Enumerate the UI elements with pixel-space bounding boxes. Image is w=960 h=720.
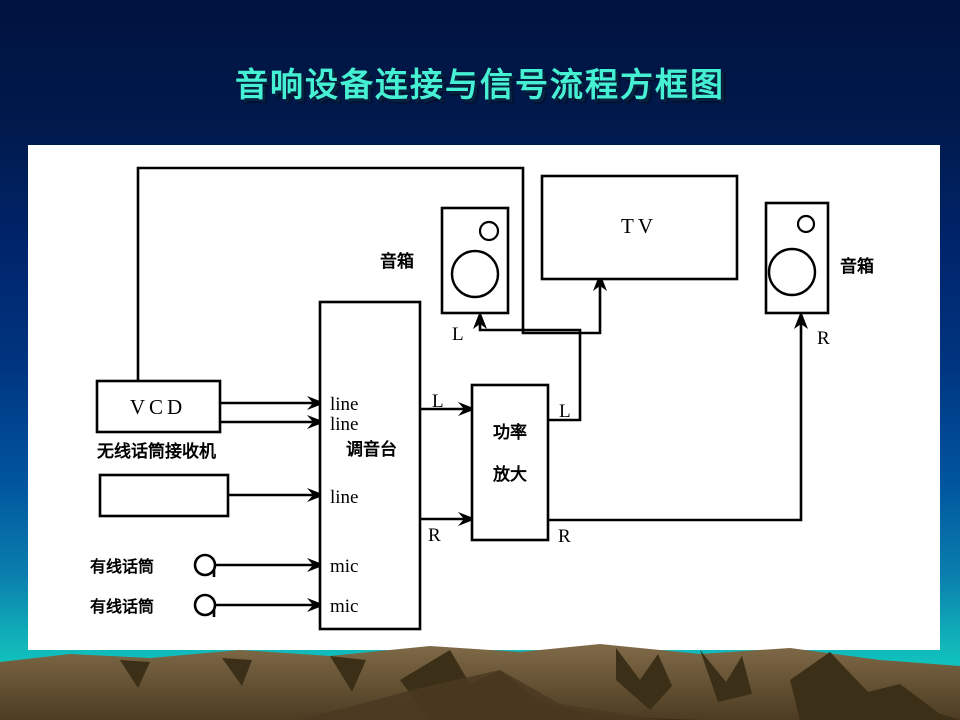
woofer-icon [452, 251, 498, 297]
wireless-receiver-box [100, 475, 228, 516]
mixer-input-mic-2: mic [330, 596, 359, 617]
speaker-left-label: 音箱 [380, 251, 414, 272]
speaker-left-channel-label: L [452, 324, 464, 345]
mixer-output-R-label: R [428, 525, 441, 546]
wire-amp-R-to-speaker [548, 325, 801, 520]
amplifier-label-line1: 功率 [493, 422, 527, 443]
rock-decoration [0, 640, 960, 720]
slide-root: 音响设备连接与信号流程方框图 [0, 0, 960, 720]
tv-block: TV [542, 176, 737, 279]
vcd-label: VCD [130, 395, 186, 419]
slide-title: 音响设备连接与信号流程方框图 [0, 58, 960, 106]
wired-mic-2-label: 有线话筒 [90, 597, 154, 616]
vcd-block: VCD [97, 381, 220, 432]
diagram-panel: VCD 无线话筒接收机 有线话筒 有线话筒 line [28, 145, 940, 650]
tweeter-icon [480, 222, 498, 240]
wired-mic-1-label: 有线话筒 [90, 557, 154, 576]
mixer-block: line line 调音台 line mic mic L R [320, 302, 444, 629]
mixer-label: 调音台 [346, 439, 397, 460]
block-diagram: VCD 无线话筒接收机 有线话筒 有线话筒 line [28, 145, 940, 650]
amplifier-output-R-label: R [558, 526, 571, 547]
speaker-right-channel-label: R [817, 328, 830, 349]
mixer-input-mic-1: mic [330, 556, 359, 577]
mixer-input-line-2: line [330, 414, 359, 435]
woofer-icon [769, 249, 815, 295]
mixer-output-L-label: L [432, 391, 444, 412]
tweeter-icon [798, 216, 814, 232]
wireless-receiver-block: 无线话筒接收机 [96, 441, 228, 516]
wired-mic-2-block: 有线话筒 [90, 595, 215, 617]
microphone-icon [195, 595, 215, 615]
microphone-icon [195, 555, 215, 575]
mixer-box [320, 302, 420, 629]
amplifier-label-line2: 放大 [492, 464, 527, 485]
tv-label: TV [621, 214, 657, 238]
wireless-receiver-label: 无线话筒接收机 [96, 441, 216, 462]
amplifier-block: 功率 放大 L R [472, 385, 571, 547]
mixer-input-line-1: line [330, 394, 359, 415]
wired-mic-1-block: 有线话筒 [90, 555, 215, 577]
speaker-right-label: 音箱 [840, 256, 874, 277]
speaker-right-block: 音箱 R [766, 203, 874, 349]
mixer-input-line-3: line [330, 487, 359, 508]
amplifier-output-L-label: L [559, 401, 571, 422]
amplifier-box [472, 385, 548, 540]
